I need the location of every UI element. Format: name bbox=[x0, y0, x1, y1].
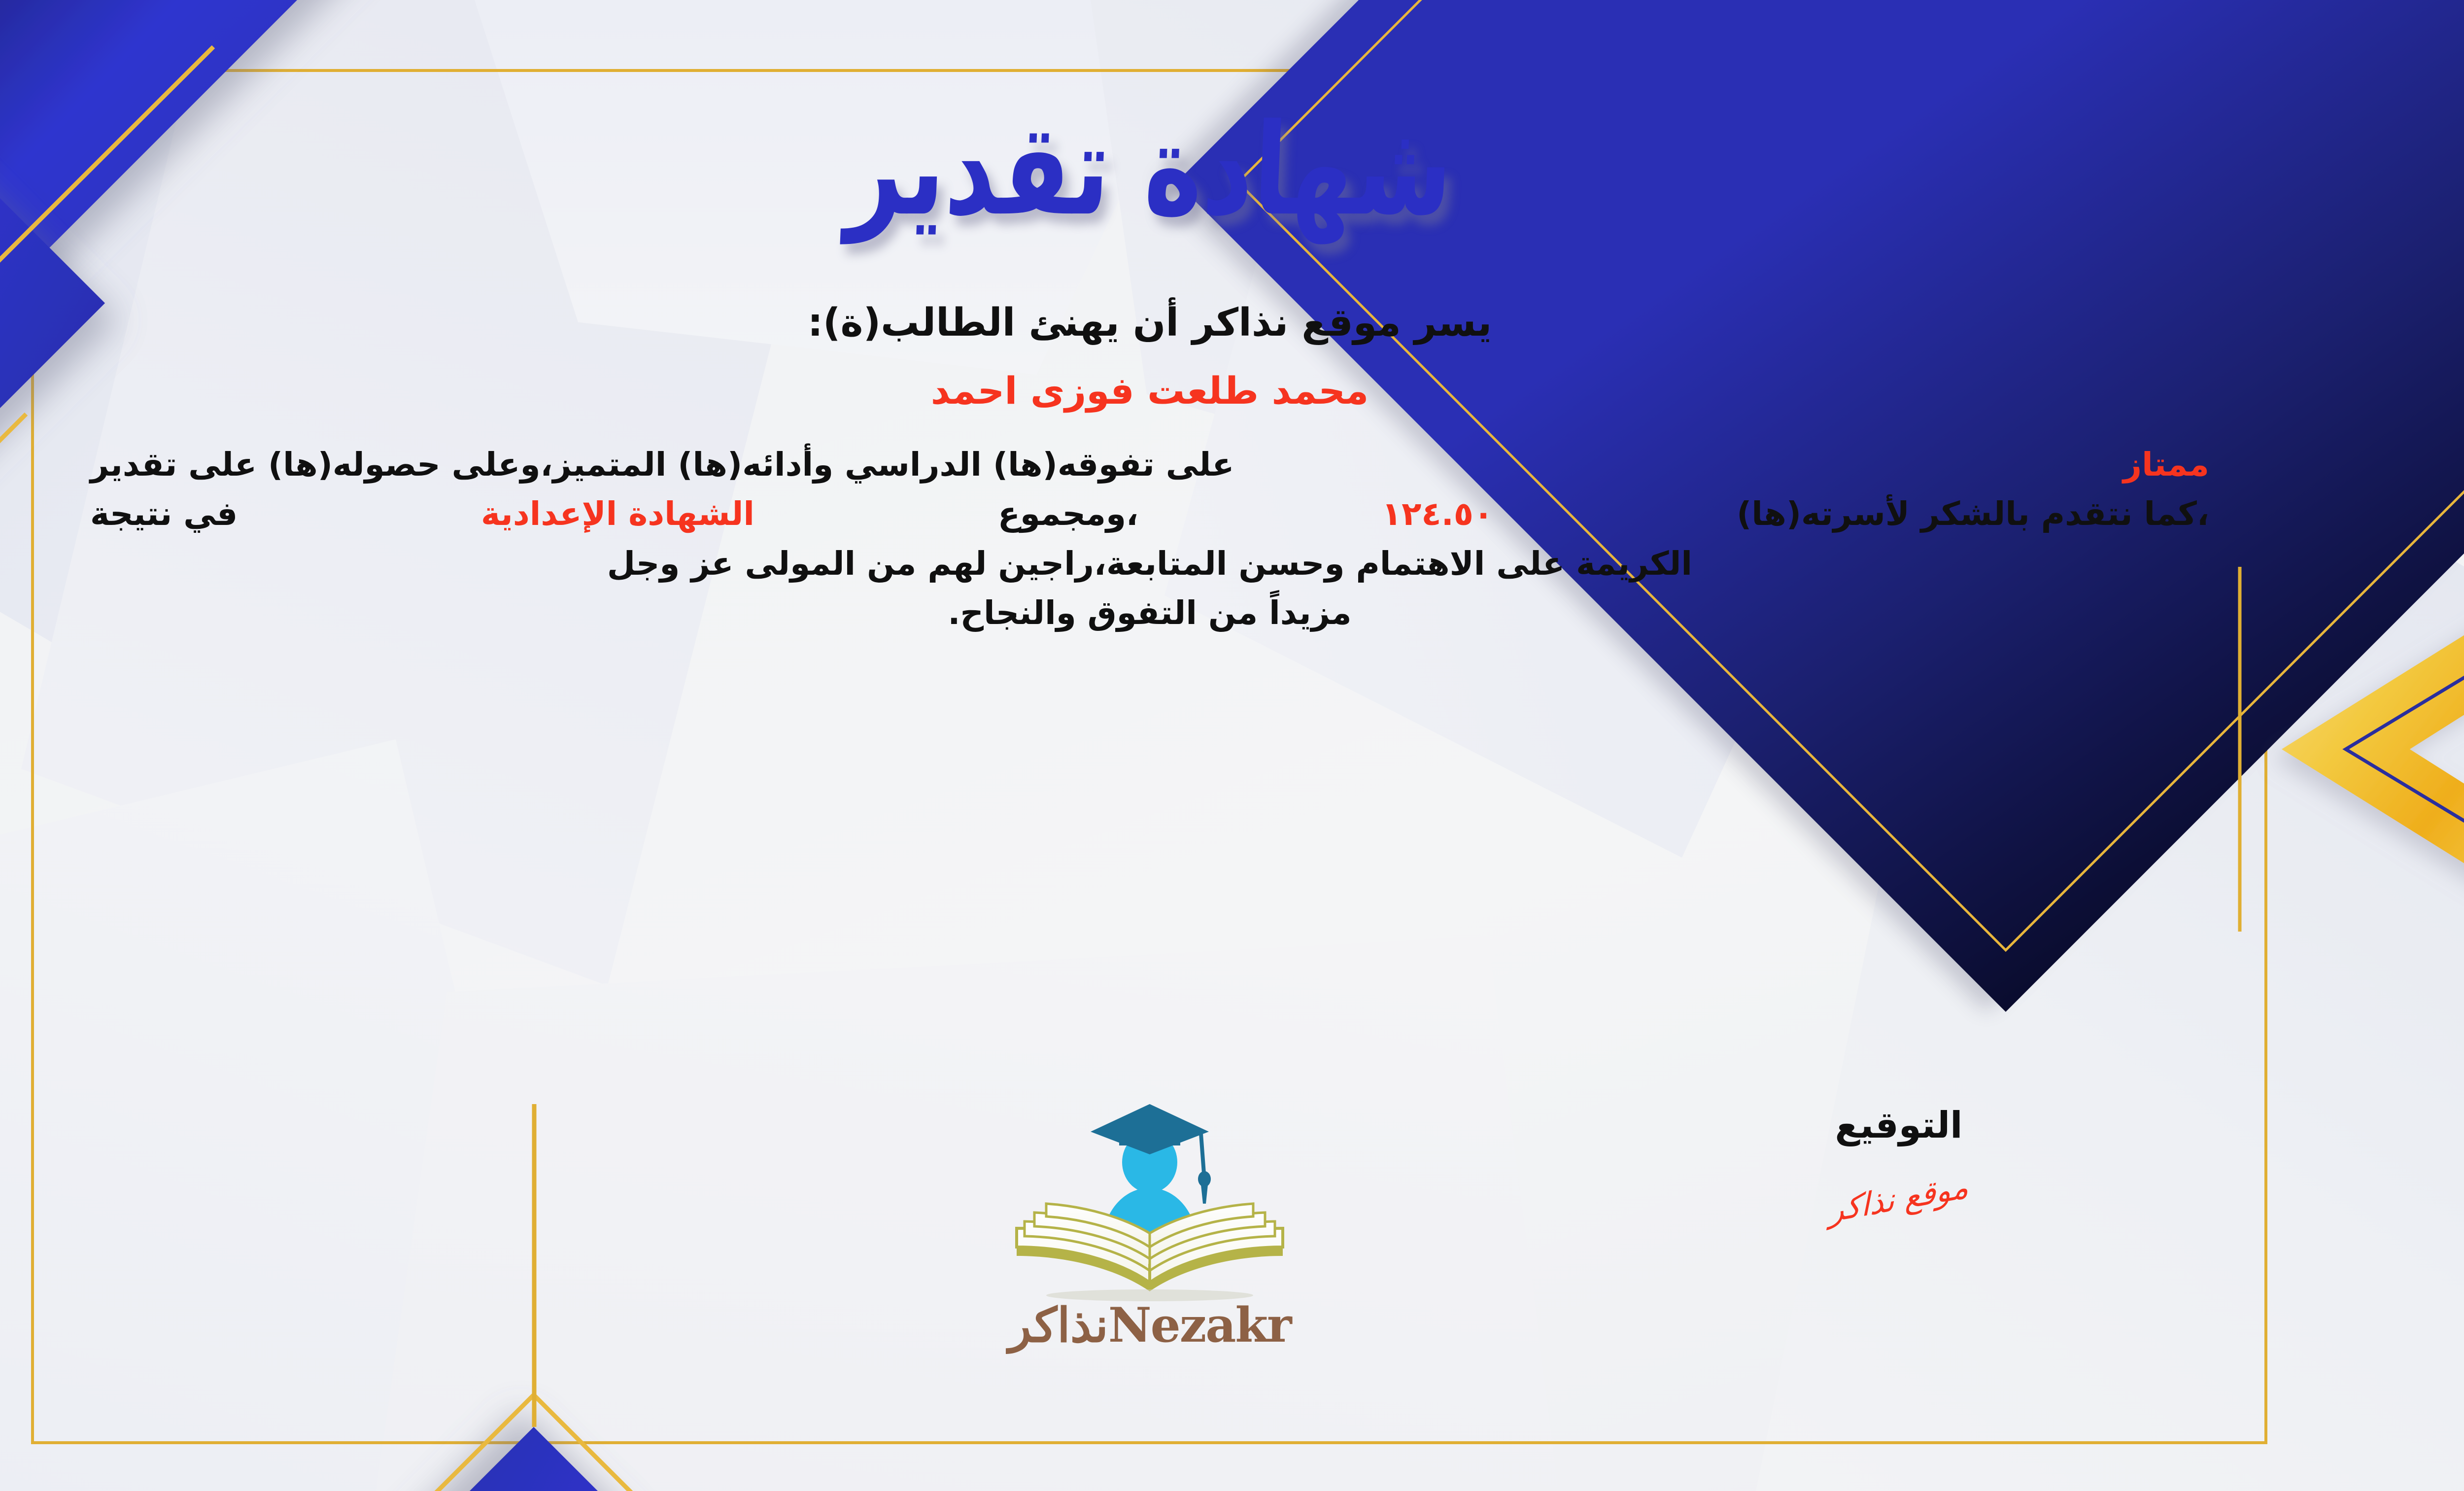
body-line-3: الكريمة على الاهتمام وحسن المتابعة،راجين… bbox=[70, 539, 2229, 589]
body-line-2: ،كما نتقدم بالشكر لأسرته(ها) ١٢٤.٥٠ ،ومج… bbox=[70, 489, 2229, 539]
body-paragraph: ممتاز على تفوقه(ها) الدراسي وأدائه(ها) ا… bbox=[70, 440, 2229, 638]
brand-logo: Nezakrنذاكر bbox=[928, 1099, 1371, 1353]
grade-value: ممتاز bbox=[2123, 440, 2209, 489]
page-title: شهادة تقدير bbox=[844, 97, 1455, 243]
body-line-2-end: ،كما نتقدم بالشكر لأسرته(ها) bbox=[1737, 489, 2209, 539]
exam-name-value: الشهادة الإعدادية bbox=[481, 489, 754, 539]
brand-logo-text: Nezakrنذاكر bbox=[928, 1297, 1371, 1353]
signature-block: التوقيع موقع نذاكر bbox=[1711, 1104, 2086, 1217]
title-wrap: شهادة تقدير bbox=[847, 99, 1452, 242]
student-name: محمد طلعت فوزى احمد bbox=[931, 369, 1369, 413]
body-line-4: مزيداً من التفوق والنجاح. bbox=[70, 589, 2229, 638]
total-score-value: ١٢٤.٥٠ bbox=[1382, 489, 1494, 539]
signature-label: التوقيع bbox=[1711, 1104, 2086, 1146]
body-line-1-text: على تفوقه(ها) الدراسي وأدائه(ها) المتميز… bbox=[90, 440, 1234, 489]
graduate-book-logo-icon bbox=[997, 1099, 1302, 1306]
certificate-canvas: شهادة تقدير يسر موقع نذاكر أن يهنئ الطال… bbox=[0, 0, 2464, 1491]
body-line-1: ممتاز على تفوقه(ها) الدراسي وأدائه(ها) ا… bbox=[70, 440, 2229, 489]
certificate-footer: التوقيع موقع نذاكر bbox=[46, 1104, 2254, 1410]
certificate-content: شهادة تقدير يسر موقع نذاكر أن يهنئ الطال… bbox=[46, 79, 2254, 1439]
body-line-2-start: في نتيجة bbox=[90, 489, 238, 539]
body-line-2-mid: ،ومجموع bbox=[998, 489, 1138, 539]
signature-script: موقع نذاكر bbox=[1828, 1169, 1969, 1230]
greeting-text: يسر موقع نذاكر أن يهنئ الطالب(ة): bbox=[808, 301, 1492, 345]
